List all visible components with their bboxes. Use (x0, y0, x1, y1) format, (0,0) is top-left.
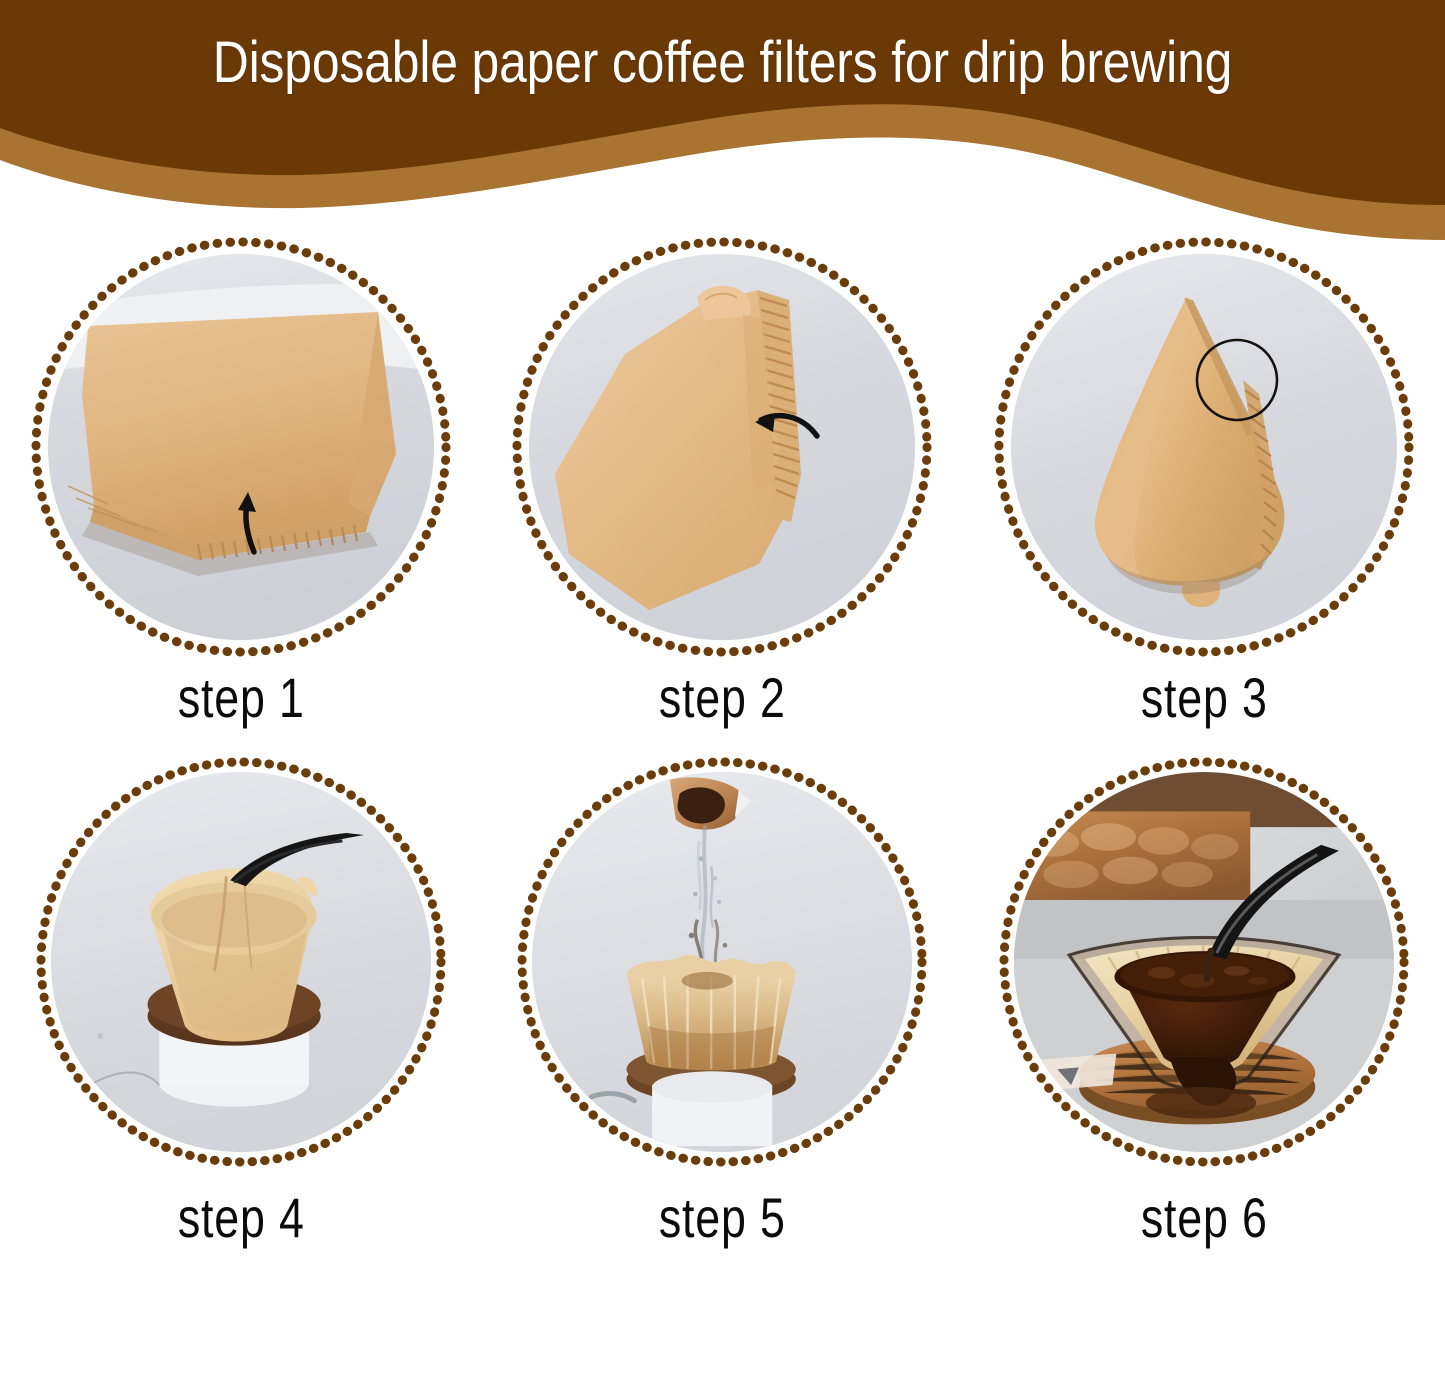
step-6-label: step 6 (1141, 1186, 1268, 1250)
step-card-6[interactable]: step 6 (977, 752, 1432, 1292)
step-card-3[interactable]: step 3 (977, 232, 1432, 752)
step-card-4[interactable]: step 4 (13, 752, 468, 1292)
step-4-circle (31, 752, 451, 1172)
header-banner: Disposable paper coffee filters for drip… (0, 0, 1445, 240)
step-1-photo (48, 254, 434, 640)
step-6-circle (994, 752, 1414, 1172)
step-3-circle (989, 232, 1419, 662)
step-5-photo (532, 772, 912, 1152)
step-2-label: step 2 (659, 666, 786, 730)
step-card-5[interactable]: step 5 (495, 752, 950, 1292)
page-title: Disposable paper coffee filters for drip… (101, 28, 1344, 98)
step-6-photo (1014, 772, 1394, 1152)
step-5-circle (512, 752, 932, 1172)
steps-grid: step 1 (0, 232, 1445, 1292)
step-card-1[interactable]: step 1 (13, 232, 468, 752)
step-1-label: step 1 (177, 666, 304, 730)
step-3-label: step 3 (1141, 666, 1268, 730)
step-2-photo (529, 254, 915, 640)
step-2-circle (507, 232, 937, 662)
step-3-photo (1011, 254, 1397, 640)
step-4-label: step 4 (177, 1186, 304, 1250)
step-1-circle (26, 232, 456, 662)
step-card-2[interactable]: step 2 (495, 232, 950, 752)
step-5-label: step 5 (659, 1186, 786, 1250)
step-4-photo (51, 772, 431, 1152)
